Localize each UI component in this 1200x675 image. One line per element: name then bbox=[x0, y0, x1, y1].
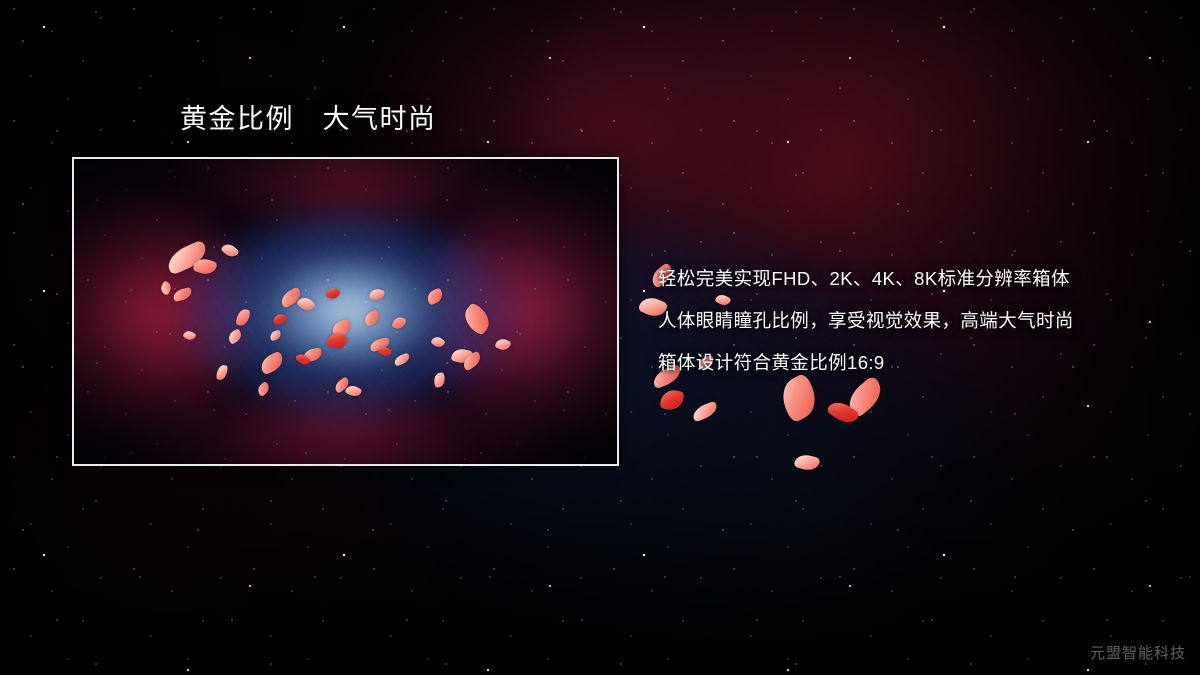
watermark: 元盟智能科技 bbox=[1090, 642, 1186, 663]
presentation-slide: 黄金比例 大气时尚 bbox=[0, 0, 1200, 675]
body-line-3: 箱体设计符合黄金比例16:9 bbox=[658, 342, 1158, 384]
body-line-2: 人体眼睛瞳孔比例，享受视觉效果，高端大气时尚 bbox=[658, 300, 1158, 342]
page-title: 黄金比例 大气时尚 bbox=[180, 102, 437, 136]
framed-galaxy-image bbox=[72, 157, 619, 466]
framed-image-content bbox=[74, 159, 617, 464]
body-line-1: 轻松完美实现FHD、2K、4K、8K标准分辨率箱体 bbox=[658, 258, 1158, 300]
body-text-block: 轻松完美实现FHD、2K、4K、8K标准分辨率箱体 人体眼睛瞳孔比例，享受视觉效… bbox=[658, 258, 1158, 384]
inner-image-vignette bbox=[74, 159, 617, 464]
